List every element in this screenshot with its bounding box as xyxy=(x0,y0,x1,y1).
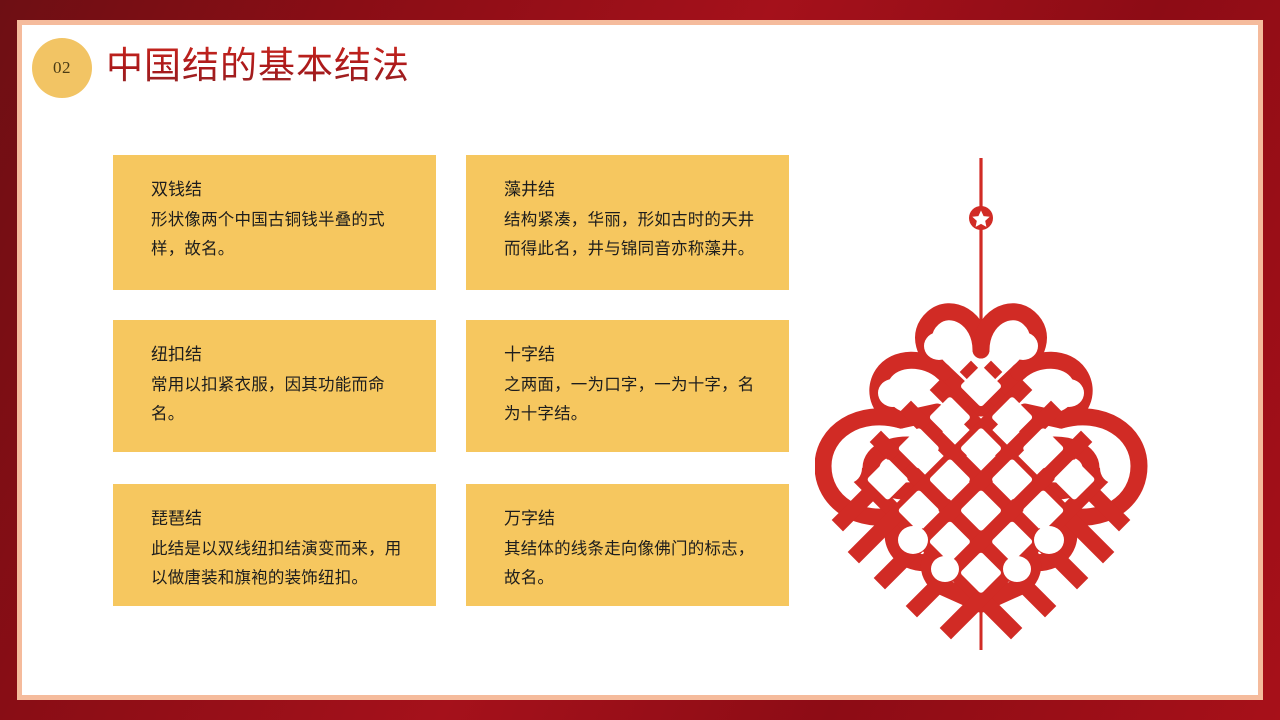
knot-card-pipajie[interactable]: 琵琶结 此结是以双线纽扣结演变而来，用以做唐装和旗袍的装饰纽扣。 xyxy=(113,484,436,606)
card-title: 双钱结 xyxy=(151,177,410,203)
card-description: 形状像两个中国古铜钱半叠的式样，故名。 xyxy=(151,205,410,263)
section-number-badge: 02 xyxy=(32,38,92,98)
card-description: 结构紧凑，华丽，形如古时的天井而得此名，井与锦同音亦称藻井。 xyxy=(504,205,763,263)
chinese-knot-illustration xyxy=(815,150,1155,650)
page-title: 中国结的基本结法 xyxy=(106,43,410,91)
card-row-1: 双钱结 形状像两个中国古铜钱半叠的式样，故名。 藻井结 结构紧凑，华丽，形如古时… xyxy=(113,155,789,290)
knot-card-grid: 双钱结 形状像两个中国古铜钱半叠的式样，故名。 藻井结 结构紧凑，华丽，形如古时… xyxy=(113,155,789,606)
section-number-label: 02 xyxy=(53,58,71,78)
row-gap-2 xyxy=(113,452,789,484)
knot-card-wanzijie[interactable]: 万字结 其结体的线条走向像佛门的标志，故名。 xyxy=(466,484,789,606)
knot-card-shizijie[interactable]: 十字结 之两面，一为口字，一为十字，名为十字结。 xyxy=(466,320,789,452)
card-description: 其结体的线条走向像佛门的标志，故名。 xyxy=(504,534,763,592)
card-row-3: 琵琶结 此结是以双线纽扣结演变而来，用以做唐装和旗袍的装饰纽扣。 万字结 其结体… xyxy=(113,484,789,606)
card-title: 纽扣结 xyxy=(151,342,410,368)
knot-card-niukoujie[interactable]: 纽扣结 常用以扣紧衣服，因其功能而命名。 xyxy=(113,320,436,452)
chinese-knot-icon xyxy=(815,150,1155,650)
card-description: 之两面，一为口字，一为十字，名为十字结。 xyxy=(504,370,763,428)
row-gap-1 xyxy=(113,290,789,320)
card-description: 常用以扣紧衣服，因其功能而命名。 xyxy=(151,370,410,428)
card-title: 琵琶结 xyxy=(151,506,410,532)
card-title: 万字结 xyxy=(504,506,763,532)
star-bead xyxy=(969,206,993,230)
knot-card-shuangqianjie[interactable]: 双钱结 形状像两个中国古铜钱半叠的式样，故名。 xyxy=(113,155,436,290)
knot-card-zaojingjie[interactable]: 藻井结 结构紧凑，华丽，形如古时的天井而得此名，井与锦同音亦称藻井。 xyxy=(466,155,789,290)
slide-root: 02 中国结的基本结法 双钱结 形状像两个中国古铜钱半叠的式样，故名。 藻井结 … xyxy=(0,0,1280,720)
card-title: 十字结 xyxy=(504,342,763,368)
card-title: 藻井结 xyxy=(504,177,763,203)
card-description: 此结是以双线纽扣结演变而来，用以做唐装和旗袍的装饰纽扣。 xyxy=(151,534,410,592)
card-row-2: 纽扣结 常用以扣紧衣服，因其功能而命名。 十字结 之两面，一为口字，一为十字，名… xyxy=(113,320,789,452)
